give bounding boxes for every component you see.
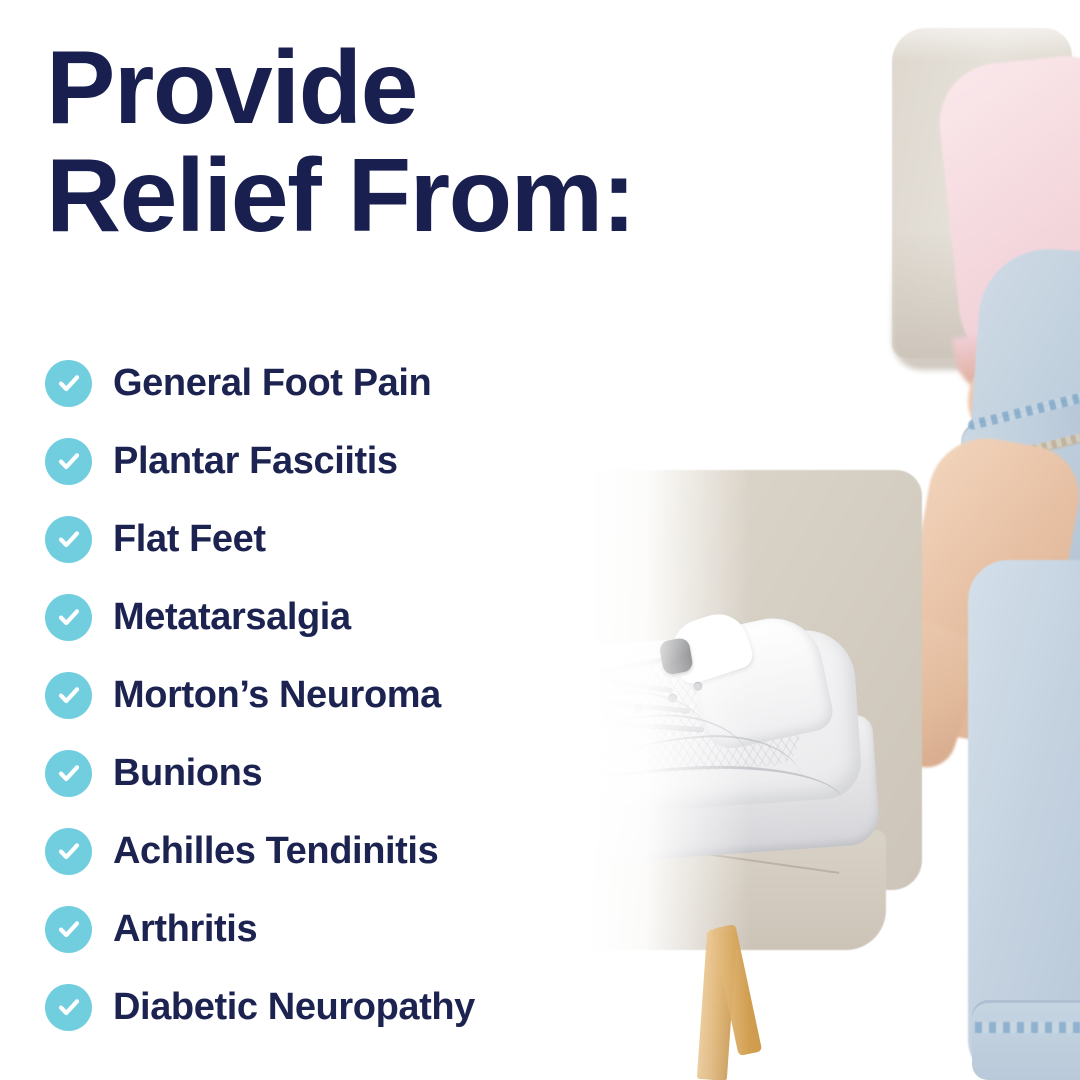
list-item: General Foot Pain — [45, 344, 665, 422]
conditions-checklist: General Foot Pain Plantar Fasciitis Flat… — [45, 344, 665, 1046]
check-circle-icon — [45, 906, 92, 953]
denim-lower-stitch — [975, 1022, 1080, 1033]
check-circle-icon — [45, 516, 92, 563]
list-item: Morton’s Neuroma — [45, 656, 665, 734]
list-item-label: Plantar Fasciitis — [113, 440, 398, 483]
denim-lower-cuff — [972, 1000, 1080, 1080]
list-item-label: Morton’s Neuroma — [113, 674, 441, 717]
list-item-label: Flat Feet — [113, 518, 266, 561]
list-item-label: General Foot Pain — [113, 362, 431, 405]
list-item: Plantar Fasciitis — [45, 422, 665, 500]
check-circle-icon — [45, 360, 92, 407]
list-item-label: Achilles Tendinitis — [113, 830, 438, 873]
list-item: Arthritis — [45, 890, 665, 968]
list-item: Bunions — [45, 734, 665, 812]
list-item: Metatarsalgia — [45, 578, 665, 656]
check-circle-icon — [45, 672, 92, 719]
promo-graphic: Provide Relief From: General Foot Pain P… — [0, 0, 1080, 1080]
check-circle-icon — [45, 594, 92, 641]
check-circle-icon — [45, 438, 92, 485]
list-item: Flat Feet — [45, 500, 665, 578]
list-item: Diabetic Neuropathy — [45, 968, 665, 1046]
page-title: Provide Relief From: — [46, 34, 746, 250]
list-item-label: Metatarsalgia — [113, 596, 351, 639]
check-circle-icon — [45, 828, 92, 875]
list-item-label: Arthritis — [113, 908, 257, 951]
check-circle-icon — [45, 750, 92, 797]
list-item-label: Diabetic Neuropathy — [113, 986, 475, 1029]
list-item-label: Bunions — [113, 752, 262, 795]
check-circle-icon — [45, 984, 92, 1031]
list-item: Achilles Tendinitis — [45, 812, 665, 890]
